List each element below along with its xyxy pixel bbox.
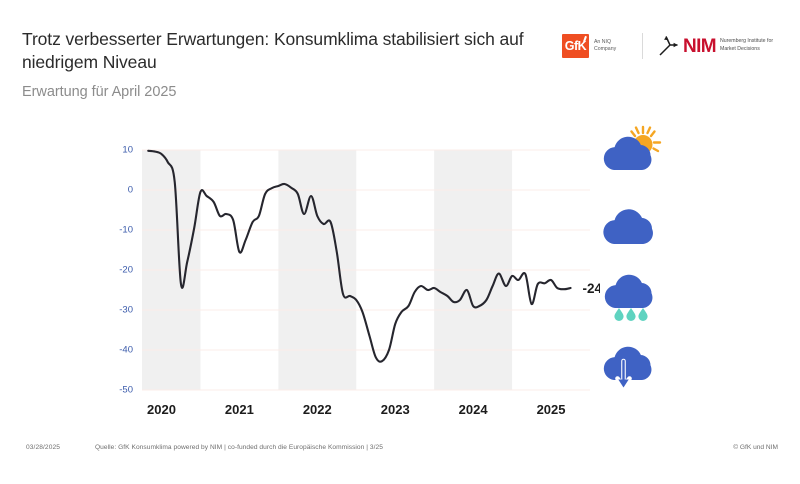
y-axis-tick-label: 0: [128, 185, 133, 196]
y-axis-tick-label: -20: [119, 265, 133, 276]
consumer-climate-line-chart: 100-10-20-30-40-50 202020212022202320242…: [0, 120, 600, 420]
footer-source: Quelle: GfK Konsumklima powered by NIM |…: [95, 444, 383, 451]
slide: Trotz verbesserter Erwartungen: Konsumkl…: [0, 0, 800, 484]
cloud-icon: [598, 196, 668, 254]
page-subtitle: Erwartung für April 2025: [22, 84, 542, 100]
logo-divider: [642, 33, 643, 59]
sun-behind-cloud-icon: [598, 124, 668, 182]
page-title: Trotz verbesserter Erwartungen: Konsumkl…: [22, 28, 542, 75]
x-axis-tick-label: 2021: [225, 402, 254, 417]
footer-copyright: © GfK und NIM: [733, 444, 778, 451]
y-axis-tick-label: -40: [119, 345, 133, 356]
chart: 100-10-20-30-40-50 202020212022202320242…: [0, 120, 600, 420]
x-axis-tick-label: 2024: [459, 402, 489, 417]
y-axis-tick-label: -10: [119, 225, 133, 236]
nim-tagline: Nuremberg Institute for Market Decisions: [720, 38, 782, 53]
nim-logo: NIM Nuremberg Institute for Market Decis…: [657, 34, 782, 58]
gfk-logo: GfK An NIQ Company: [562, 34, 628, 58]
x-axis-tick-label: 2022: [303, 402, 332, 417]
x-axis-tick-label: 2020: [147, 402, 176, 417]
y-axis-ticks: 100-10-20-30-40-50: [119, 145, 133, 396]
rain-cloud-icon: [598, 268, 668, 326]
footer-date: 03/28/2025: [26, 444, 60, 451]
nim-wordmark: NIM: [683, 37, 716, 56]
x-axis-ticks: 202020212022202320242025: [147, 402, 565, 417]
gfk-mark-icon: GfK: [562, 34, 589, 58]
gridlines: [142, 150, 590, 390]
x-axis-tick-label: 2025: [537, 402, 566, 417]
weather-icon-scale: [598, 124, 674, 400]
nim-arrow-icon: [657, 34, 679, 58]
y-axis-tick-label: 10: [122, 145, 133, 156]
gfk-tagline: An NIQ Company: [594, 39, 628, 54]
y-axis-tick-label: -50: [119, 385, 133, 396]
cloud-down-arrow-icon: [598, 340, 668, 398]
y-axis-tick-label: -30: [119, 305, 133, 316]
logo-bar: GfK An NIQ Company NIM Nuremberg Institu…: [562, 33, 782, 59]
x-axis-tick-label: 2023: [381, 402, 410, 417]
